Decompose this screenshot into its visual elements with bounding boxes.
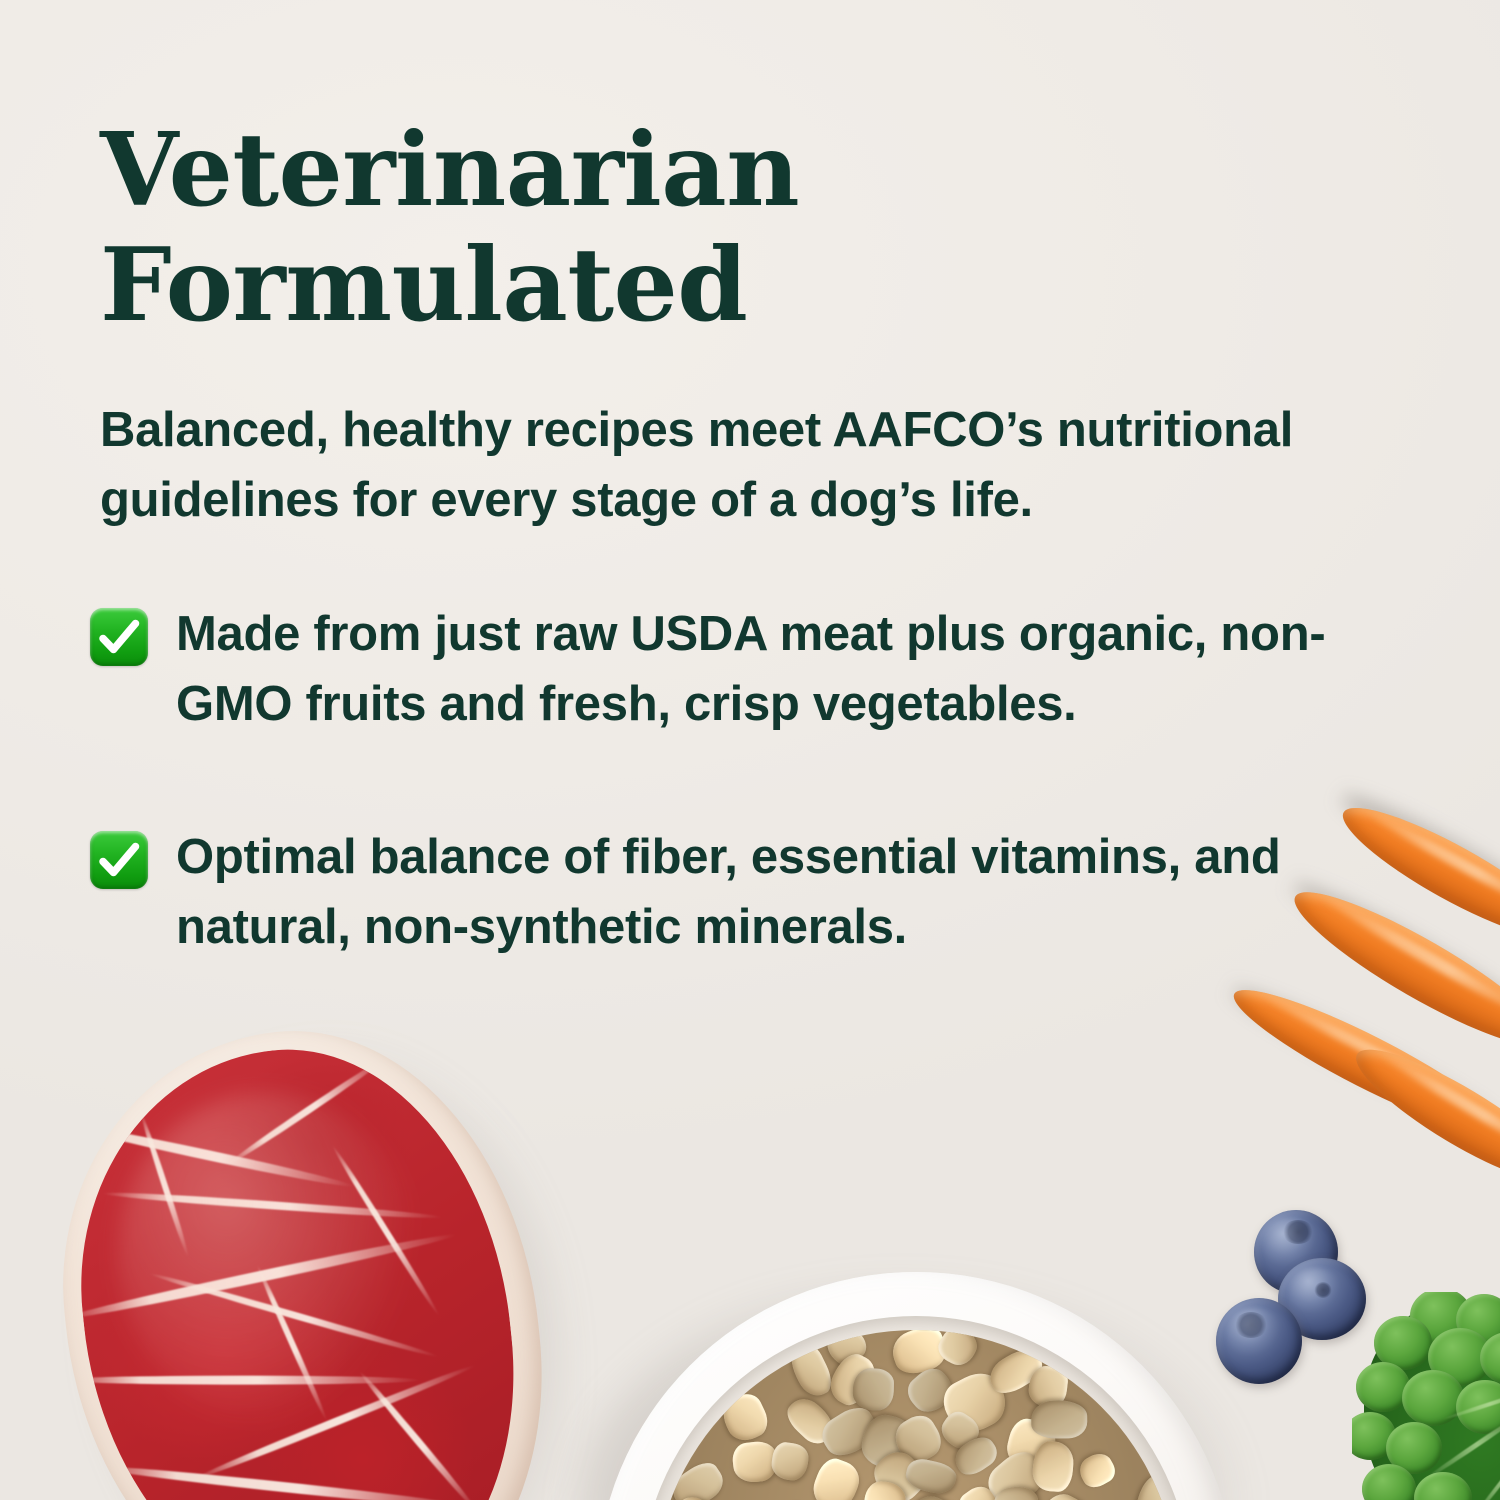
list-item: Made from just raw USDA meat plus organi…: [90, 600, 1440, 739]
list-item-label: Optimal balance of fiber, essential vita…: [176, 823, 1440, 962]
page-title: Veterinarian Formulated: [100, 112, 1100, 342]
list-item: Optimal balance of fiber, essential vita…: [90, 823, 1440, 962]
product-feature-banner: Veterinarian Formulated Balanced, health…: [0, 0, 1500, 1500]
subheadline-text: Balanced, healthy recipes meet AAFCO’s n…: [100, 396, 1440, 535]
list-item-label: Made from just raw USDA meat plus organi…: [176, 600, 1440, 739]
benefits-list: Made from just raw USDA meat plus organi…: [90, 600, 1440, 1046]
headline-line-2: Formulated: [100, 227, 1100, 342]
copy-layer: Veterinarian Formulated Balanced, health…: [0, 0, 1500, 1500]
green-check-mark-icon: [90, 608, 148, 666]
headline-line-1: Veterinarian: [100, 112, 1100, 227]
green-check-mark-icon: [90, 831, 148, 889]
